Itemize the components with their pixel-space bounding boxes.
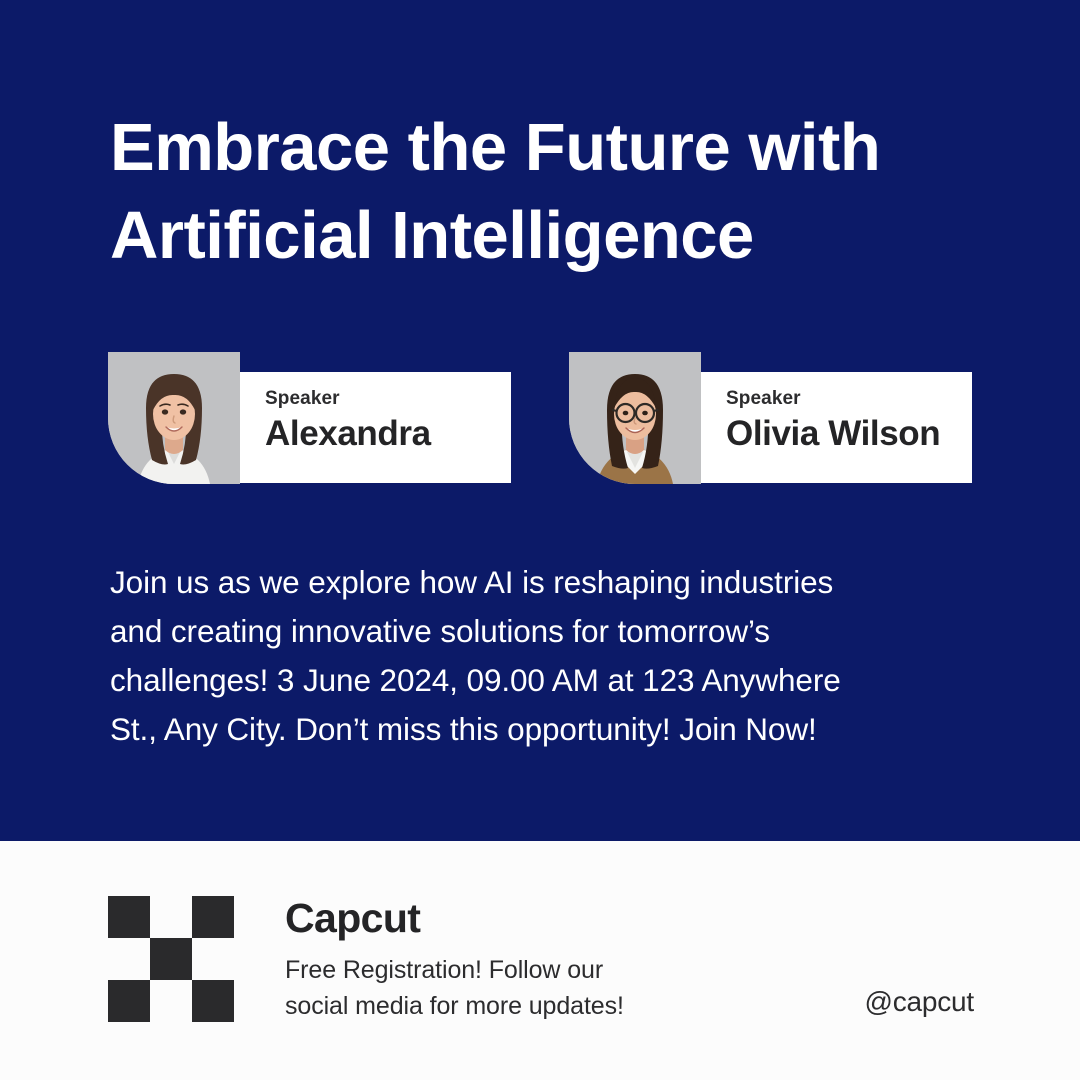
logo-cell [108, 980, 150, 1022]
page-title: Embrace the Future with Artificial Intel… [110, 104, 1010, 280]
speaker-list: Speaker Alexandra [0, 352, 1080, 492]
logo-cell [108, 938, 150, 980]
brand-tagline: Free Registration! Follow our social med… [285, 952, 624, 1024]
speaker-name: Olivia Wilson [726, 412, 972, 456]
speaker-avatar [108, 352, 240, 484]
tagline-line-1: Free Registration! Follow our [285, 952, 624, 988]
logo-cell [150, 938, 192, 980]
logo-cell [150, 980, 192, 1022]
body-line-2: and creating innovative solutions for to… [110, 607, 990, 656]
logo-cell [192, 896, 234, 938]
headline-line-1: Embrace the Future with [110, 104, 1010, 192]
speaker-namebox: Speaker Alexandra [239, 372, 511, 483]
headline-line-2: Artificial Intelligence [110, 192, 1010, 280]
social-handle[interactable]: @capcut [864, 985, 974, 1019]
speaker-name: Alexandra [265, 412, 511, 456]
speaker-role-label: Speaker [726, 388, 972, 410]
checkerboard-x-logo-icon [108, 896, 234, 1022]
speaker-card-alexandra[interactable]: Speaker Alexandra [108, 352, 511, 492]
logo-cell [192, 938, 234, 980]
hero-section: Embrace the Future with Artificial Intel… [0, 0, 1080, 841]
logo-cell [150, 896, 192, 938]
logo-cell [192, 980, 234, 1022]
tagline-line-2: social media for more updates! [285, 988, 624, 1024]
body-line-3: challenges! 3 June 2024, 09.00 AM at 123… [110, 656, 990, 705]
brand-name: Capcut [285, 894, 420, 942]
speaker-namebox: Speaker Olivia Wilson [700, 372, 972, 483]
body-line-4: St., Any City. Don’t miss this opportuni… [110, 705, 990, 754]
speaker-card-olivia-wilson[interactable]: Speaker Olivia Wilson [569, 352, 972, 492]
body-line-1: Join us as we explore how AI is reshapin… [110, 558, 990, 607]
poster-canvas: Embrace the Future with Artificial Intel… [0, 0, 1080, 1080]
event-description: Join us as we explore how AI is reshapin… [110, 558, 990, 754]
logo-cell [108, 896, 150, 938]
speaker-role-label: Speaker [265, 388, 511, 410]
speaker-avatar [569, 352, 701, 484]
